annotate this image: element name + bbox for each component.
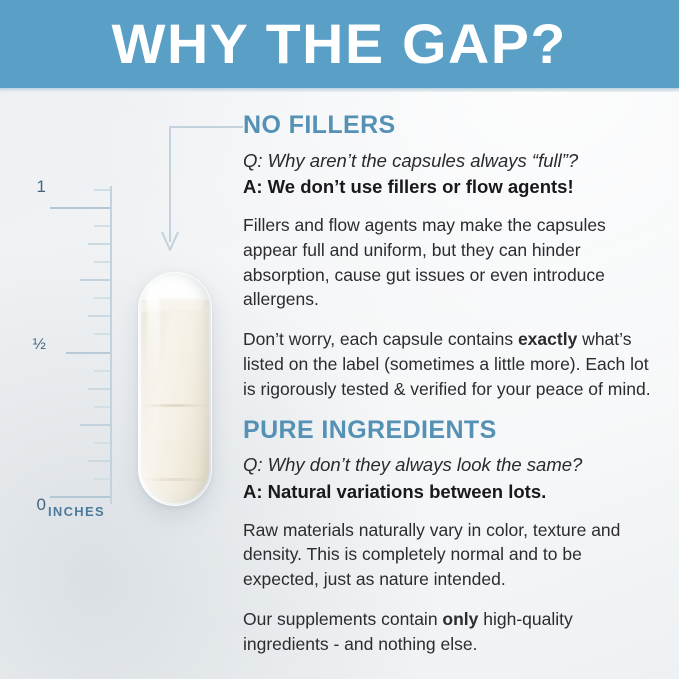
ruler-tick bbox=[94, 261, 110, 263]
paragraph-fillers-effects: Fillers and flow agents may make the cap… bbox=[243, 213, 655, 312]
ruler-unit-label: INCHES bbox=[48, 504, 105, 519]
paragraph-exact-label: Don’t worry, each capsule contains exact… bbox=[243, 327, 655, 402]
arrow-icon bbox=[160, 124, 244, 260]
ruler-tick bbox=[94, 442, 110, 444]
paragraph-only-high-quality: Our supplements contain only high-qualit… bbox=[243, 607, 655, 657]
section-no-fillers: NO FILLERS Q: Why aren’t the capsules al… bbox=[243, 112, 655, 402]
ruler-scale: 1 ½ 0 bbox=[22, 186, 112, 504]
section-pure-ingredients: PURE INGREDIENTS Q: Why don’t they alway… bbox=[243, 417, 655, 657]
infographic-page: WHY THE GAP? 1 ½ 0 INCHES NO FILLERS Q: … bbox=[0, 0, 679, 679]
ruler-label-0: 0 bbox=[37, 496, 46, 513]
ruler-tick bbox=[88, 315, 110, 317]
capsule-image bbox=[138, 272, 212, 506]
ruler-tick bbox=[88, 460, 110, 462]
ruler-tick bbox=[94, 297, 110, 299]
ruler-tick bbox=[94, 478, 110, 480]
ruler-tick bbox=[94, 370, 110, 372]
answer-no-fillers: A: We don’t use fillers or flow agents! bbox=[243, 175, 655, 199]
ruler-spine bbox=[110, 186, 112, 504]
section-title-no-fillers: NO FILLERS bbox=[243, 112, 655, 140]
ruler-tick bbox=[50, 207, 110, 209]
ruler-tick bbox=[66, 352, 110, 354]
ruler-tick bbox=[88, 388, 110, 390]
content-column: NO FILLERS Q: Why aren’t the capsules al… bbox=[243, 112, 655, 672]
answer-pure-ingredients: A: Natural variations between lots. bbox=[243, 480, 655, 504]
ruler-tick bbox=[94, 189, 110, 191]
paragraph-raw-materials: Raw materials naturally vary in color, t… bbox=[243, 518, 655, 593]
header-banner: WHY THE GAP? bbox=[0, 0, 679, 88]
question-pure-ingredients: Q: Why don’t they always look the same? bbox=[243, 453, 655, 477]
ruler-tick bbox=[88, 243, 110, 245]
question-no-fillers: Q: Why aren’t the capsules always “full”… bbox=[243, 149, 655, 173]
callout-arrow bbox=[160, 124, 244, 260]
page-title: WHY THE GAP? bbox=[112, 16, 567, 72]
banner-divider bbox=[0, 88, 679, 92]
ruler-tick bbox=[80, 279, 110, 281]
ruler-label-1: 1 bbox=[37, 178, 46, 195]
ruler-tick bbox=[94, 333, 110, 335]
ruler-tick bbox=[94, 406, 110, 408]
ruler-tick bbox=[94, 225, 110, 227]
ruler-label-half: ½ bbox=[33, 337, 46, 353]
capsule-shell-edge bbox=[138, 272, 212, 506]
ruler-tick bbox=[80, 424, 110, 426]
section-title-pure-ingredients: PURE INGREDIENTS bbox=[243, 417, 655, 445]
ruler-tick bbox=[50, 496, 110, 498]
